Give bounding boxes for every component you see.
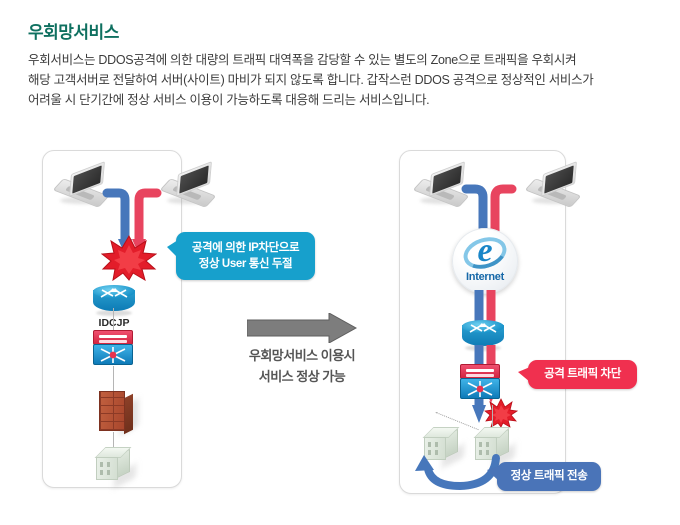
link-switch-server [492, 405, 493, 427]
attack-flow-line [495, 189, 512, 233]
normal-user-flow-line [107, 193, 125, 241]
switch-icon-before [93, 330, 133, 366]
attack-flow-line [139, 193, 157, 241]
switch-top-module [460, 364, 500, 379]
server-vent [107, 470, 110, 475]
callout-attack-ip-block: 공격에 의한 IP차단으로 정상 User 통신 두절 [176, 232, 315, 280]
callout-label: 공격 트래픽 차단 [528, 366, 637, 382]
intro-line-3: 어려울 시 단기간에 정상 서비스 이용이 가능하도록 대응해 드리는 서비스입… [28, 90, 648, 110]
bypass-flow-arrowhead [415, 455, 434, 471]
router-label-idcjp: IDCJP [84, 317, 144, 329]
intro-line-2: 해당 고객서버로 전달하여 서버(사이트) 마비가 되지 않도록 합니다. 갑작… [28, 70, 648, 90]
transition-caption-line-2: 서비스 정상 가능 [232, 366, 372, 387]
router-icon-before [93, 285, 135, 315]
laptop-icon-right-before [165, 168, 217, 206]
server-front-face [96, 457, 118, 480]
server-vent [100, 470, 103, 475]
router-arrows-icon [462, 320, 504, 337]
server-icon-before [96, 447, 136, 485]
switch-icon-after [460, 364, 500, 400]
switch-star-icon [464, 380, 496, 398]
server-vent [100, 462, 103, 467]
switch-slot [99, 335, 127, 338]
explosion-icon-after [484, 398, 518, 428]
callout-line-1: 공격에 의한 IP차단으로 [176, 240, 315, 256]
firewall-face [99, 391, 125, 431]
switch-slot [466, 369, 494, 372]
link-switch-firewall [113, 366, 114, 391]
laptop-icon-right-after [530, 168, 582, 206]
link-router-switch [113, 308, 114, 330]
transition-caption-line-1: 우회망서비스 이용시 [232, 345, 372, 366]
page-root: 우회망서비스 우회서비스는 DDOS공격에 의한 대량의 트래픽 대역폭을 감당… [0, 0, 680, 525]
intro-line-1: 우회서비스는 DDOS공격에 의한 대량의 트래픽 대역폭을 감당할 수 있는 … [28, 50, 648, 70]
server-vent [107, 462, 110, 467]
switch-slot [99, 340, 127, 343]
after-top-flow-pipes [462, 183, 516, 233]
callout-tail [518, 367, 530, 382]
intro-paragraph: 우회서비스는 DDOS공격에 의한 대량의 트래픽 대역폭을 감당할 수 있는 … [28, 50, 648, 110]
server-vent [479, 442, 482, 447]
switch-top-module [93, 330, 133, 345]
callout-tail [487, 466, 499, 481]
internet-label: Internet [452, 271, 518, 283]
callout-normal-traffic-forward: 정상 트래픽 전송 [497, 462, 601, 491]
router-arrows-icon [93, 285, 135, 302]
right-arrow-icon [247, 313, 357, 343]
callout-line-2: 정상 User 통신 두절 [176, 256, 315, 272]
server-vent [486, 442, 489, 447]
switch-slot [466, 374, 494, 377]
transition-caption: 우회망서비스 이용시 서비스 정상 가능 [232, 345, 372, 387]
bypass-flow-line [428, 458, 496, 486]
callout-label: 정상 트래픽 전송 [497, 468, 601, 484]
switch-star-icon [97, 346, 129, 364]
firewall-icon-before [95, 389, 137, 435]
normal-user-flow-line [466, 189, 483, 233]
callout-attack-traffic-block: 공격 트래픽 차단 [528, 360, 637, 389]
server-vent [428, 442, 431, 447]
callout-tail [167, 240, 178, 258]
explosion-icon-before [101, 235, 157, 281]
server-vent [435, 442, 438, 447]
firewall-side [124, 394, 133, 434]
page-title: 우회망서비스 [28, 18, 119, 43]
internet-icon: e Internet [452, 228, 518, 294]
